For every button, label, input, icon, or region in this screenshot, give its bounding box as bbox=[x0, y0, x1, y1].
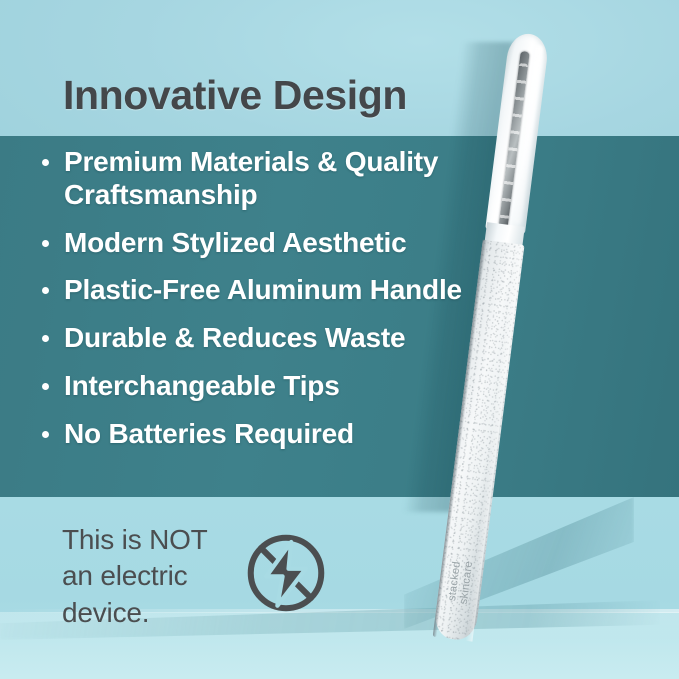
list-item: Interchangeable Tips bbox=[36, 370, 536, 403]
no-electricity-icon bbox=[243, 530, 329, 616]
list-item: Premium Materials & Quality Craftsmanshi… bbox=[36, 146, 536, 212]
feature-list: Premium Materials & Quality Craftsmanshi… bbox=[36, 146, 536, 465]
product-infographic: stacked skincare Innovative Design Premi… bbox=[0, 0, 679, 679]
notice-line-2: an electric bbox=[62, 558, 208, 594]
list-item: Plastic-Free Aluminum Handle bbox=[36, 274, 536, 307]
page-title: Innovative Design bbox=[63, 72, 407, 119]
list-item: Durable & Reduces Waste bbox=[36, 322, 536, 355]
notice-line-1: This is NOT bbox=[62, 522, 208, 558]
list-item: Modern Stylized Aesthetic bbox=[36, 227, 536, 260]
not-electric-notice: This is NOT an electric device. bbox=[62, 522, 208, 631]
list-item: No Batteries Required bbox=[36, 418, 536, 451]
notice-line-3: device. bbox=[62, 595, 208, 631]
